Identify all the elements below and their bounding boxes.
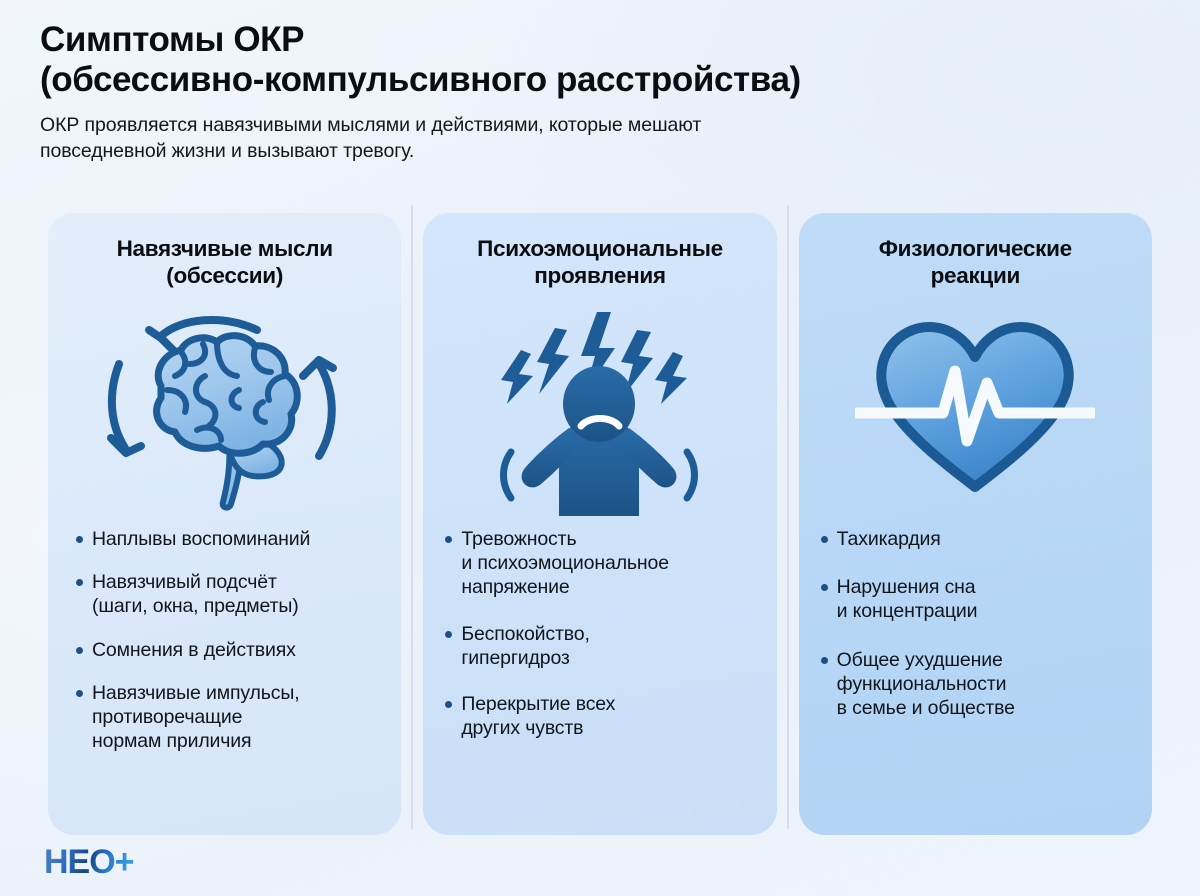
- list-item: Навязчивые импульсы, противоречащие норм…: [92, 681, 381, 754]
- brain-cycle-icon: [64, 295, 385, 527]
- card-divider-2: [777, 213, 799, 835]
- list-item: Перекрытие всех других чувств: [461, 692, 756, 740]
- brand-logo: НЕО+: [44, 842, 134, 882]
- card-title: Психоэмоциональные проявления: [439, 235, 760, 291]
- list-item: Наплывы воспоминаний: [92, 527, 381, 551]
- page-title: Симптомы ОКР (обсессивно-компульсивного …: [40, 20, 1170, 99]
- card-title: Навязчивые мысли (обсессии): [64, 235, 385, 291]
- list-item: Нарушения сна и концентрации: [837, 575, 1132, 623]
- list-item: Общее ухудшение функциональности в семье…: [837, 648, 1132, 721]
- card-psychoemotional: Психоэмоциональные проявления: [423, 213, 776, 835]
- stressed-person-icon: [439, 295, 760, 527]
- list-item: Навязчивый подсчёт (шаги, окна, предметы…: [92, 570, 381, 618]
- header: Симптомы ОКР (обсессивно-компульсивного …: [40, 20, 1170, 165]
- heart-pulse-icon: [815, 295, 1136, 527]
- symptom-list: Тахикардия Нарушения сна и концентрации …: [815, 527, 1136, 817]
- symptom-list: Наплывы воспоминаний Навязчивый подсчёт …: [64, 527, 385, 817]
- symptom-list: Тревожность и психоэмоциональное напряже…: [439, 527, 760, 817]
- list-item: Тахикардия: [837, 527, 1132, 551]
- card-divider-1: [401, 213, 423, 835]
- list-item: Тревожность и психоэмоциональное напряже…: [461, 527, 756, 600]
- card-obsessive-thoughts: Навязчивые мысли (обсессии): [48, 213, 401, 835]
- infographic-page: Симптомы ОКР (обсессивно-компульсивного …: [0, 0, 1200, 896]
- card-physiological: Физиологические реакции Тахикардия: [799, 213, 1152, 835]
- symptom-cards-row: Навязчивые мысли (обсессии): [48, 213, 1152, 835]
- list-item: Беспокойство, гипергидроз: [461, 622, 756, 670]
- list-item: Сомнения в действиях: [92, 638, 381, 662]
- logo-text: НЕО+: [44, 845, 134, 879]
- card-title: Физиологические реакции: [815, 235, 1136, 291]
- page-subtitle: ОКР проявляется навязчивыми мыслями и де…: [40, 113, 1070, 164]
